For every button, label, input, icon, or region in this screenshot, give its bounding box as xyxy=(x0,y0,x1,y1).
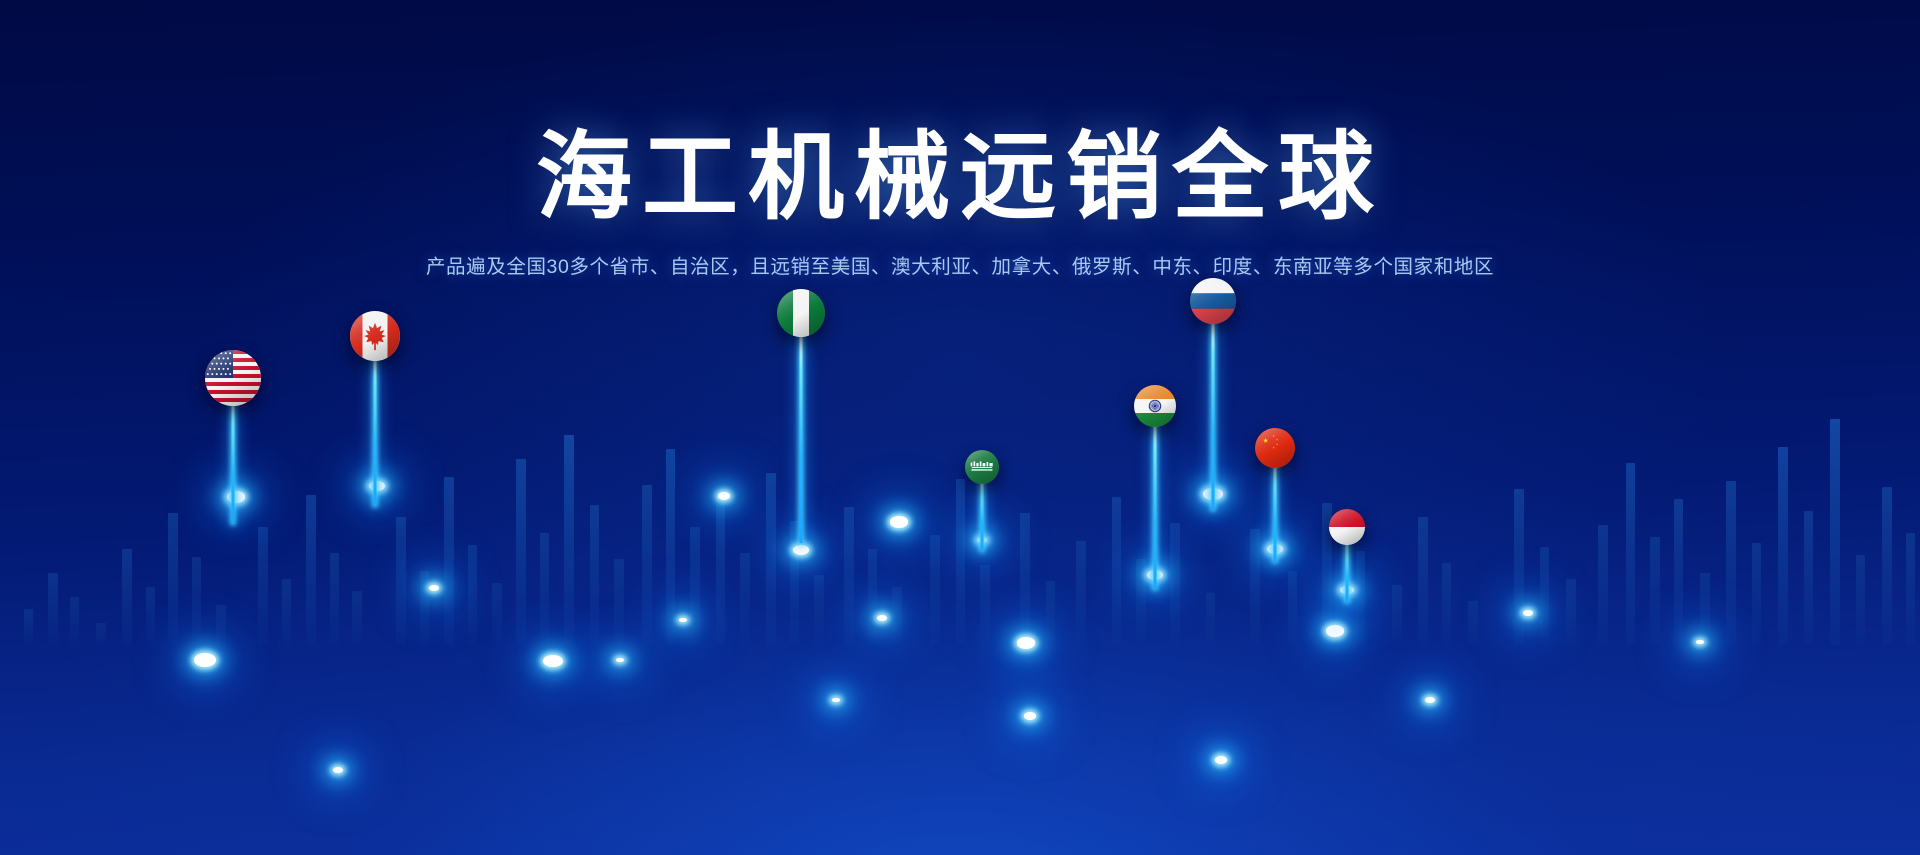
in-flag-icon[interactable] xyxy=(1134,385,1176,427)
ng-flag-icon[interactable] xyxy=(777,289,825,337)
cn-flag-icon[interactable] xyxy=(1255,428,1295,468)
flag-pin-us[interactable] xyxy=(205,350,261,532)
pin-stem xyxy=(374,354,377,506)
flag-pin-sa[interactable] xyxy=(965,450,999,556)
pin-stem xyxy=(232,398,235,524)
headline-block: 海工机械远销全球 产品遍及全国30多个省市、自治区，且远销至美国、澳大利亚、加拿… xyxy=(0,0,1920,279)
id-flag-icon[interactable] xyxy=(1329,509,1365,545)
pin-stem xyxy=(1346,540,1349,602)
flag-pin-cn[interactable] xyxy=(1255,428,1295,568)
flag-pin-ng[interactable] xyxy=(777,289,825,550)
page-title: 海工机械远销全球 xyxy=(0,0,1920,228)
pin-stem xyxy=(1274,462,1277,562)
pin-stem xyxy=(1154,421,1157,589)
ca-flag-icon[interactable] xyxy=(350,311,400,361)
sa-flag-icon[interactable] xyxy=(965,450,999,484)
page-subtitle: 产品遍及全国30多个省市、自治区，且远销至美国、澳大利亚、加拿大、俄罗斯、中东、… xyxy=(0,228,1920,279)
us-flag-icon[interactable] xyxy=(205,350,261,406)
flag-pin-ru[interactable] xyxy=(1190,278,1236,516)
pin-stem xyxy=(1212,318,1215,510)
ru-flag-icon[interactable] xyxy=(1190,278,1236,324)
pin-stem xyxy=(981,479,984,551)
flag-pin-id[interactable] xyxy=(1329,509,1365,607)
flag-pin-in[interactable] xyxy=(1134,385,1176,595)
global-sales-banner: 海工机械远销全球 产品遍及全国30多个省市、自治区，且远销至美国、澳大利亚、加拿… xyxy=(0,0,1920,855)
flag-pin-ca[interactable] xyxy=(350,311,400,513)
pin-stem xyxy=(800,330,803,543)
